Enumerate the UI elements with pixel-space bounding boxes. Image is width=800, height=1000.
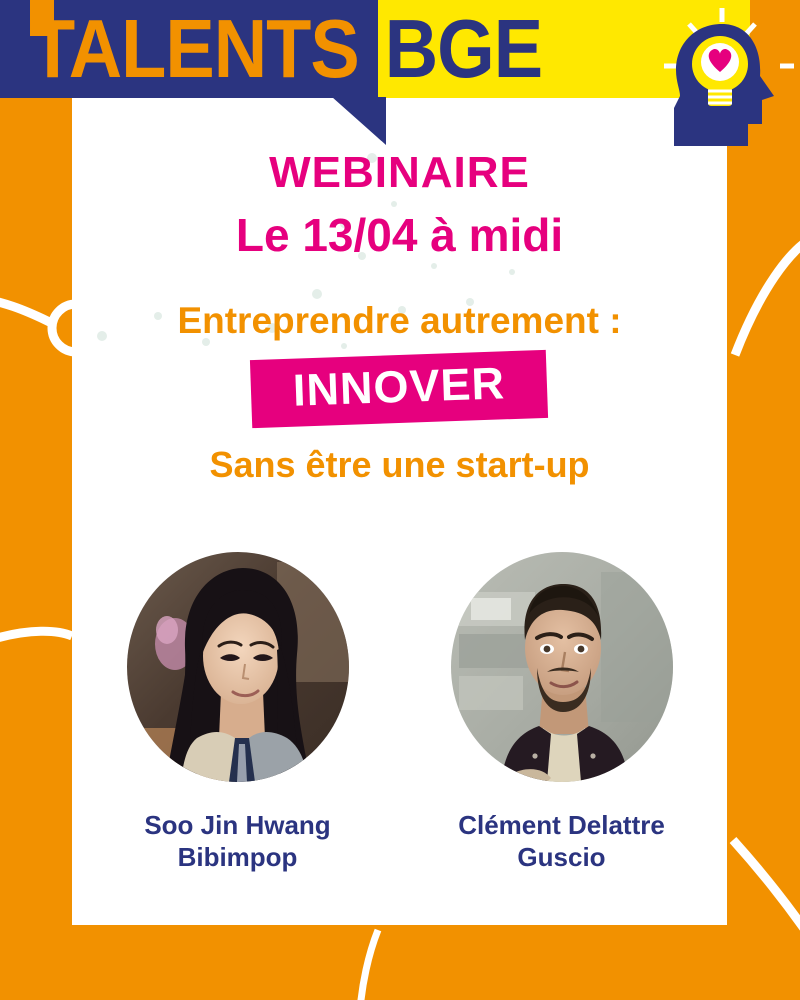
speaker-organization: Guscio	[451, 842, 673, 874]
logo-row: TALENTS BGE	[0, 0, 750, 98]
speaker-photo-clement-delattre	[451, 552, 673, 782]
event-date-label: Le 13/04 à midi	[72, 210, 727, 261]
speaker-name: Clément Delattre	[451, 810, 673, 842]
theme-label: Entreprendre autrement :	[72, 301, 727, 342]
speaker-card: Soo Jin Hwang Bibimpop	[127, 552, 349, 873]
brand-banner: TALENTS BGE	[0, 0, 750, 98]
decor-arc-left-lower	[0, 631, 72, 640]
event-type-label: WEBINAIRE	[72, 150, 727, 196]
head-lightbulb-heart-icon	[650, 4, 800, 164]
webinar-poster: TALENTS BGE WEBINAIRE Le 13/04 à midi	[0, 0, 800, 1000]
decor-arc-right-lower	[733, 840, 800, 940]
banner-speech-tail	[332, 97, 386, 145]
subtitle-label: Sans être une start-up	[72, 445, 727, 485]
logo-bge: BGE	[385, 8, 542, 91]
decor-line-left	[0, 295, 56, 325]
speaker-name: Soo Jin Hwang	[127, 810, 349, 842]
speakers-row: Soo Jin Hwang Bibimpop	[72, 552, 727, 873]
speaker-organization: Bibimpop	[127, 842, 349, 874]
decor-line-bottom	[360, 930, 378, 1000]
headline-block: WEBINAIRE Le 13/04 à midi Entreprendre a…	[72, 150, 727, 485]
highlight-badge-wrapper: INNOVER	[72, 355, 727, 423]
speaker-card: Clément Delattre Guscio	[451, 552, 673, 873]
decor-arc-right-upper	[735, 238, 800, 355]
logo-talents: TALENTS	[30, 8, 359, 91]
highlight-badge: INNOVER	[250, 350, 548, 428]
speaker-photo-soo-jin-hwang	[127, 552, 349, 782]
